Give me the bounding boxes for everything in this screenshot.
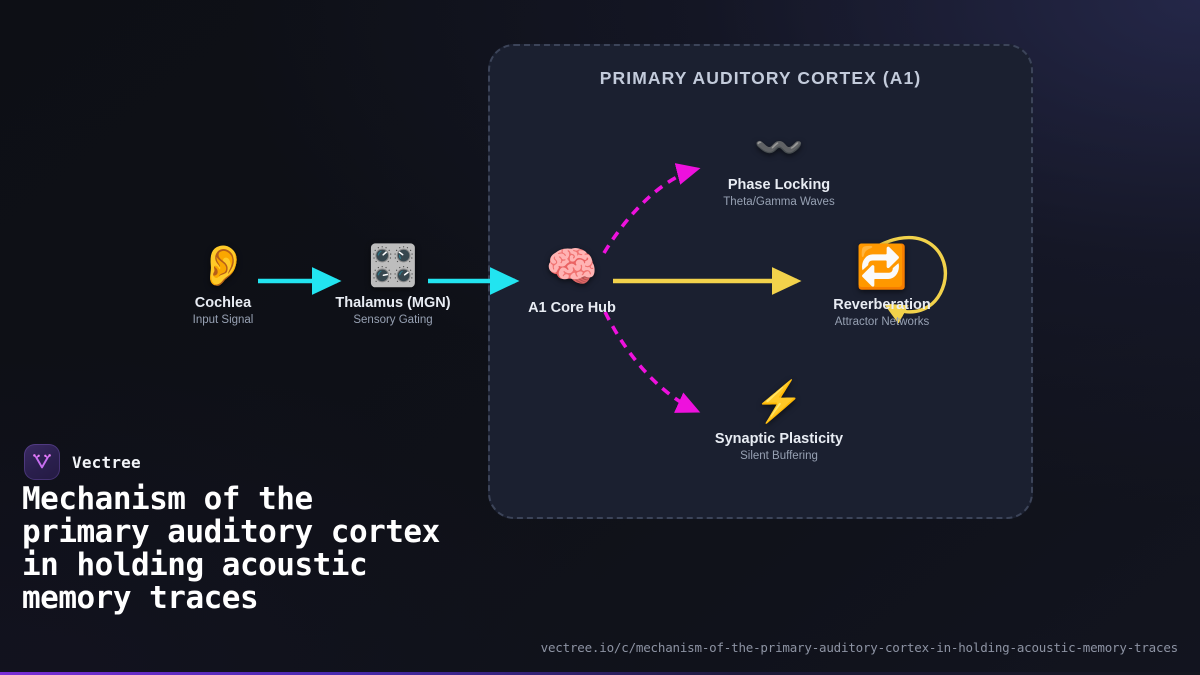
footer-url: vectree.io/c/mechanism-of-the-primary-au… [541, 640, 1178, 655]
node-phase-locking-subtitle: Theta/Gamma Waves [699, 196, 859, 208]
ear-icon: 👂 [143, 246, 303, 286]
node-cochlea-subtitle: Input Signal [143, 314, 303, 326]
node-reverberation-subtitle: Attractor Networks [802, 316, 962, 328]
vectree-logo-icon [24, 444, 60, 480]
node-a1-core-hub[interactable]: 🧠 A1 Core Hub [492, 246, 652, 316]
node-synaptic-plasticity-title: Synaptic Plasticity [699, 431, 859, 447]
wavy-dash-icon: 〰️ [699, 128, 859, 168]
node-thalamus[interactable]: 🎛️ Thalamus (MGN) Sensory Gating [313, 246, 473, 326]
repeat-icon: 🔁 [802, 246, 962, 288]
node-cochlea[interactable]: 👂 Cochlea Input Signal [143, 246, 303, 326]
node-a1-core-hub-title: A1 Core Hub [492, 300, 652, 316]
node-cochlea-title: Cochlea [143, 295, 303, 311]
node-reverberation-title: Reverberation [802, 297, 962, 313]
brain-icon: 🧠 [492, 246, 652, 288]
node-thalamus-subtitle: Sensory Gating [313, 314, 473, 326]
high-voltage-icon: ⚡ [699, 382, 859, 422]
node-synaptic-plasticity-subtitle: Silent Buffering [699, 450, 859, 462]
brand-row: Vectree [24, 444, 141, 480]
node-synaptic-plasticity[interactable]: ⚡ Synaptic Plasticity Silent Buffering [699, 382, 859, 462]
edge-hub-to-synaptic [605, 312, 697, 411]
node-phase-locking[interactable]: 〰️ Phase Locking Theta/Gamma Waves [699, 128, 859, 208]
node-phase-locking-title: Phase Locking [699, 177, 859, 193]
brand-name: Vectree [72, 453, 141, 472]
control-knobs-icon: 🎛️ [313, 246, 473, 286]
node-reverberation[interactable]: 🔁 Reverberation Attractor Networks [802, 246, 962, 328]
edge-hub-to-phase [604, 169, 697, 253]
page-headline: Mechanism of the primary auditory cortex… [22, 483, 452, 614]
node-thalamus-title: Thalamus (MGN) [313, 295, 473, 311]
